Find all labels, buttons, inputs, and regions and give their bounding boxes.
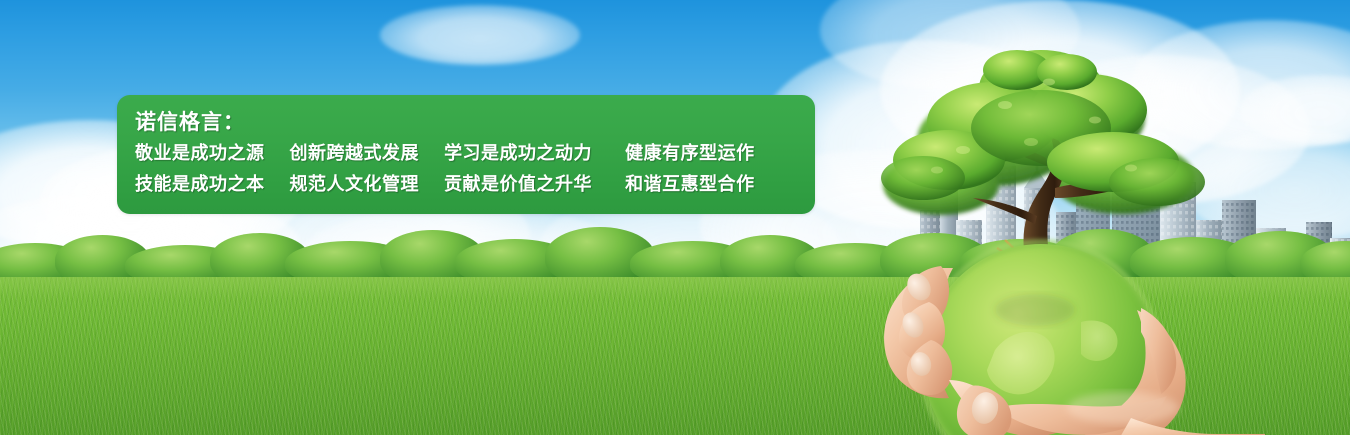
motto-segment: 贡献是价值之升华 — [444, 169, 592, 200]
motto-line-1: 敬业是成功之源 创新跨越式发展 学习是成功之动力 健康有序型运作 — [135, 138, 815, 169]
motto-segment: 规范人文化管理 — [290, 169, 420, 200]
motto-segment: 技能是成功之本 — [135, 169, 265, 200]
eco-culture-banner: 诺信格言： 敬业是成功之源 创新跨越式发展 学习是成功之动力 健康有序型运作 技… — [0, 0, 1350, 435]
eco-tree-globe-hands — [845, 10, 1265, 435]
motto-segment: 创新跨越式发展 — [290, 138, 420, 169]
tree-canopy-front — [881, 50, 1205, 206]
motto-segment: 和谐互惠型合作 — [625, 169, 755, 200]
motto-segment: 学习是成功之动力 — [444, 138, 592, 169]
motto-segment: 健康有序型运作 — [625, 138, 755, 169]
cloud-shape — [380, 5, 580, 65]
motto-panel: 诺信格言： 敬业是成功之源 创新跨越式发展 学习是成功之动力 健康有序型运作 技… — [117, 95, 815, 214]
motto-line-2: 技能是成功之本 规范人文化管理 贡献是价值之升华 和谐互惠型合作 — [135, 169, 815, 200]
motto-segment: 敬业是成功之源 — [135, 138, 265, 169]
motto-title: 诺信格言： — [135, 108, 815, 138]
